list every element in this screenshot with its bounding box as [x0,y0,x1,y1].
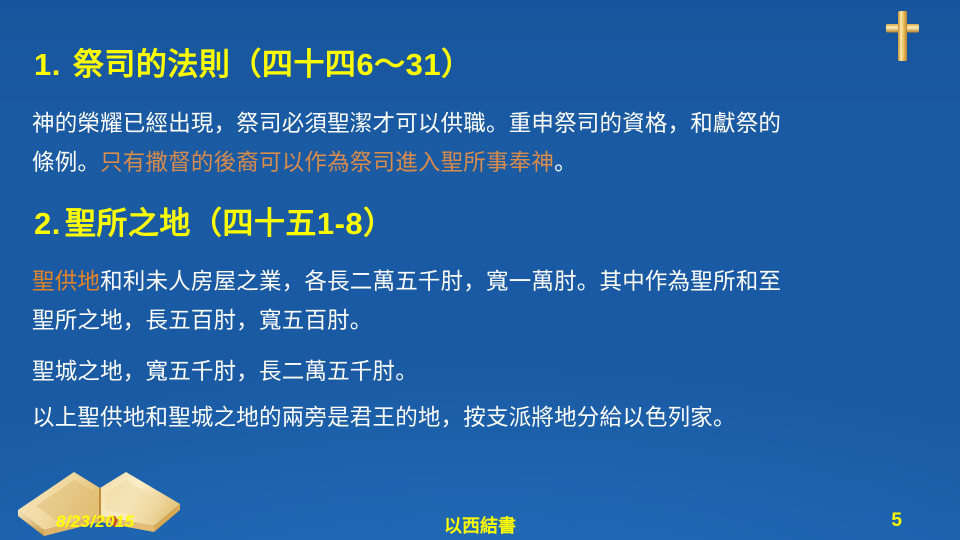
section-2-body-line-4: 以上聖供地和聖城之地的兩旁是君王的地，按支派將地分給以色列家。 [32,398,936,437]
highlighted-text-segment: 聖供地 [32,269,100,294]
text-segment: 以上聖供地和聖城之地的兩旁是君王的地，按支派將地分給以色列家。 [32,405,736,430]
footer-page-number: 5 [891,510,902,532]
section-1-number: 1. [34,47,61,82]
section-1-body: 神的榮耀已經出現，祭司必須聖潔才可以供職。重申祭司的資格，和獻祭的 條例。只有撒… [32,104,936,182]
highlighted-text-segment: 只有撒督的後裔可以作為祭司進入聖所事奉神 [100,150,554,175]
section-1-heading: 1.祭司的法則（四十四6～31） [34,48,473,82]
section-2-title: 聖所之地（四十五1-8） [65,206,395,241]
text-segment: 神的榮耀已經出現，祭司必須聖潔才可以供職。重申祭司的資格，和獻祭的 [32,111,781,136]
section-2-heading: 2.聖所之地（四十五1-8） [34,207,395,241]
text-segment: 聖城之地，寬五千肘，長二萬五千肘。 [32,359,418,384]
body-line: 聖供地和利未人房屋之業，各長二萬五千肘，寬一萬肘。其中作為聖所和至 [32,262,936,301]
cross-icon [874,6,930,64]
section-2-number: 2. [34,206,61,241]
body-line: 條例。只有撒督的後裔可以作為祭司進入聖所事奉神。 [32,143,936,182]
slide: 1.祭司的法則（四十四6～31） 神的榮耀已經出現，祭司必須聖潔才可以供職。重申… [0,0,960,540]
section-2-body: 聖供地和利未人房屋之業，各長二萬五千肘，寬一萬肘。其中作為聖所和至 聖所之地，長… [32,262,936,340]
section-2-body-line-3: 聖城之地，寬五千肘，長二萬五千肘。 [32,352,936,391]
text-segment: 條例。 [32,150,100,175]
footer-title: 以西結書 [0,512,960,538]
text-segment: 。 [554,150,577,175]
text-segment: 聖所之地，長五百肘，寬五百肘。 [32,308,373,333]
section-1-title: 祭司的法則（四十四6～31） [73,47,473,82]
body-line: 神的榮耀已經出現，祭司必須聖潔才可以供職。重申祭司的資格，和獻祭的 [32,104,936,143]
body-line: 聖所之地，長五百肘，寬五百肘。 [32,301,936,340]
text-segment: 和利未人房屋之業，各長二萬五千肘，寬一萬肘。其中作為聖所和至 [100,269,781,294]
